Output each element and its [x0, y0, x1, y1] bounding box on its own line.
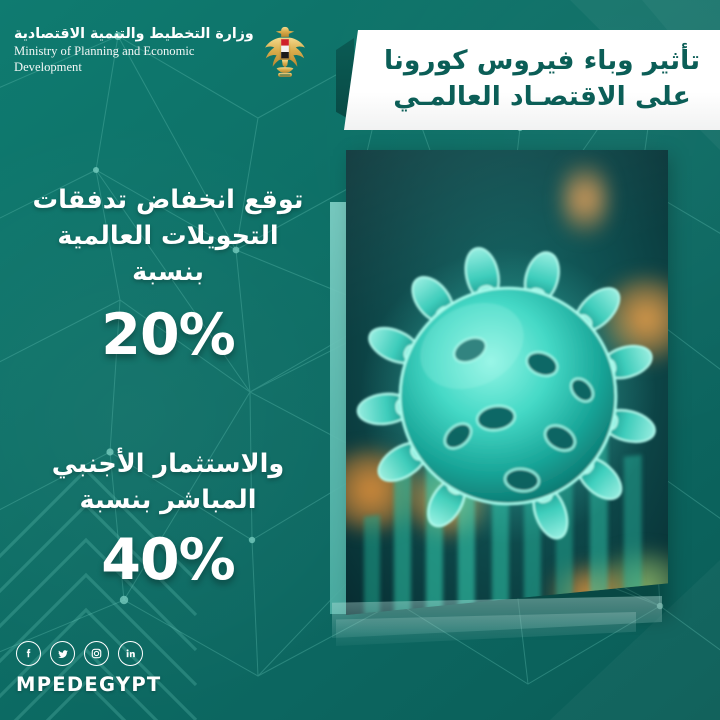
social-links: [16, 641, 246, 666]
ministry-name-arabic: وزارة التخطيط والتنمية الاقتصادية: [14, 26, 254, 42]
statement-text: توقع انخفاض تدفقات التحويلات العالمية بن…: [10, 182, 326, 291]
footer: MPEDEGYPT: [16, 641, 246, 696]
title-line-2: على الاقتصـاد العالمـي: [393, 80, 690, 114]
twitter-icon[interactable]: [50, 641, 75, 666]
coronavirus-photo: [346, 150, 668, 615]
infographic-poster: وزارة التخطيط والتنمية الاقتصادية Minist…: [0, 0, 720, 720]
statement-percentage: 40%: [10, 532, 326, 589]
ministry-name-english-line1: Ministry of Planning and Economic: [14, 44, 226, 59]
statement-block-remittances: توقع انخفاض تدفقات التحويلات العالمية بن…: [10, 182, 326, 364]
social-handle: MPEDEGYPT: [16, 673, 246, 696]
title-line-1: تأثير وباء فيروس كورونا: [384, 44, 700, 78]
egypt-eagle-emblem-icon: [262, 22, 308, 84]
photo-gloss-overlay: [346, 150, 668, 615]
ministry-name-english: Ministry of Planning and Economic Develo…: [14, 44, 226, 75]
ministry-logo-text: وزارة التخطيط والتنمية الاقتصادية Minist…: [14, 24, 254, 75]
title-banner: تأثير وباء فيروس كورونا على الاقتصـاد ال…: [344, 30, 720, 130]
ministry-logo: وزارة التخطيط والتنمية الاقتصادية Minist…: [14, 24, 282, 96]
statement-text: والاستثمار الأجنبي المباشر بنسبة: [10, 446, 326, 518]
instagram-icon[interactable]: [84, 641, 109, 666]
ministry-name-english-line2: Development: [14, 60, 226, 75]
linkedin-icon[interactable]: [118, 641, 143, 666]
statement-percentage: 20%: [10, 307, 326, 364]
statement-block-fdi: والاستثمار الأجنبي المباشر بنسبة 40%: [10, 446, 326, 589]
facebook-icon[interactable]: [16, 641, 41, 666]
